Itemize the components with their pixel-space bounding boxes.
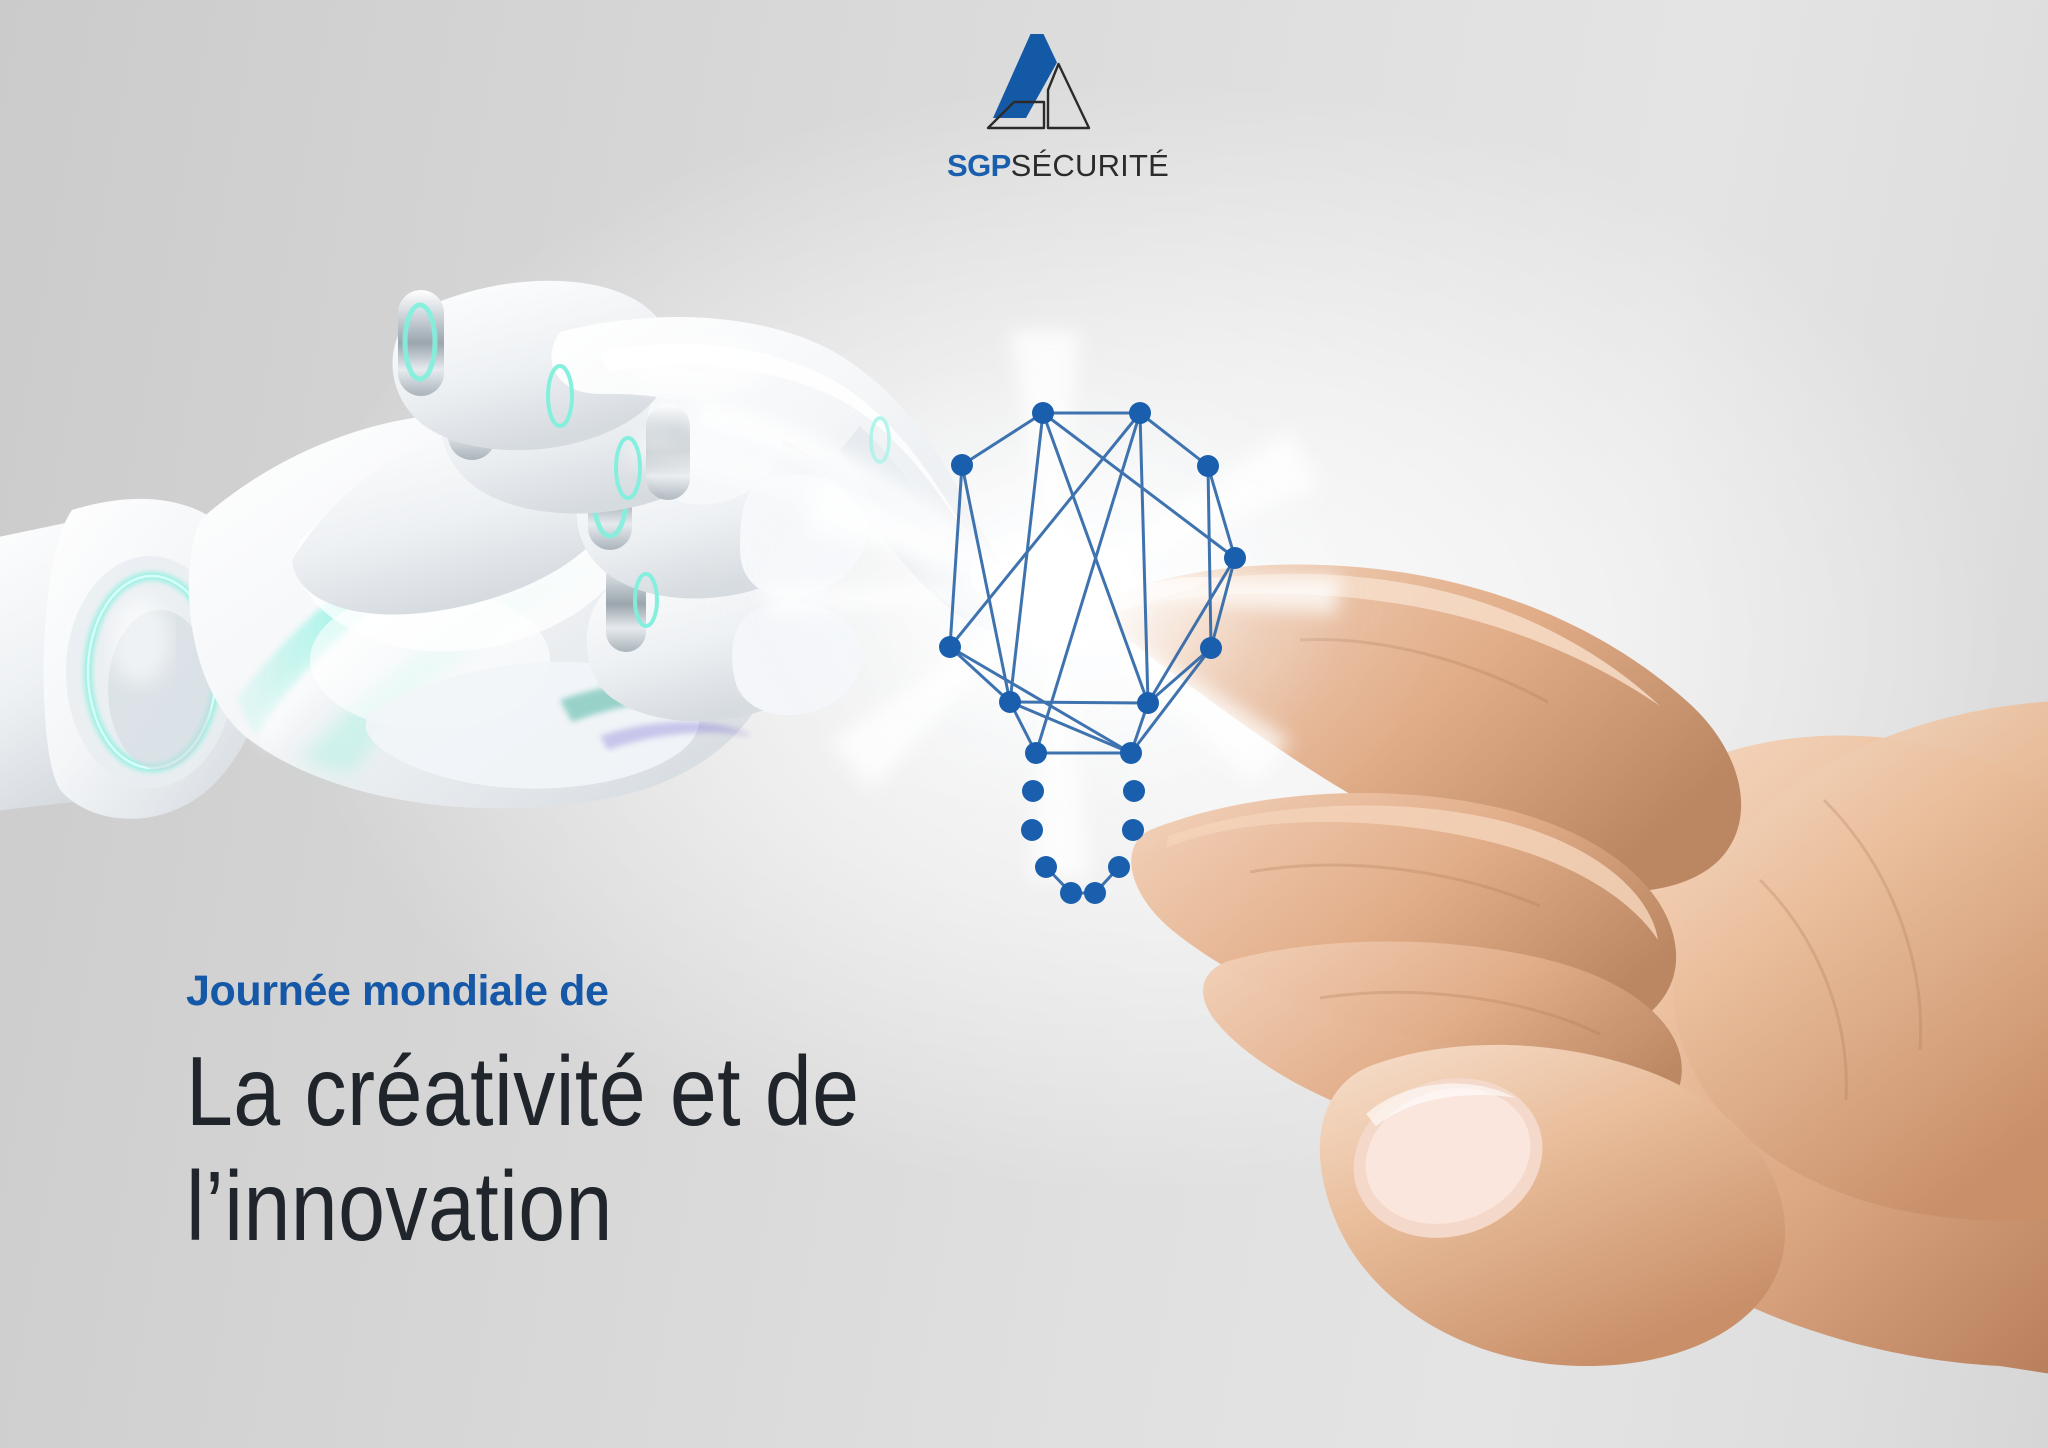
network-node [1022,780,1044,802]
network-node [1123,780,1145,802]
network-edge [1140,413,1208,466]
logo-wordmark-bold: SGP [947,148,1011,183]
network-node [1129,402,1151,424]
headline-block: Journée mondiale de La créativité et de … [186,966,1266,1265]
network-node [1108,856,1130,878]
network-node [999,691,1021,713]
network-node [1120,742,1142,764]
network-edge [1148,648,1211,703]
logo[interactable]: SGPSÉCURITÉ [947,28,1147,181]
network-node [1084,882,1106,904]
network-node [951,454,973,476]
logo-wordmark-light: SÉCURITÉ [1011,148,1169,183]
logo-wordmark: SGPSÉCURITÉ [947,150,1147,181]
network-edge [1208,466,1211,648]
network-node [1122,819,1144,841]
network-edge [1148,558,1235,703]
network-edge [1010,413,1043,702]
network-nodes [939,402,1246,904]
network-node [1025,742,1047,764]
network-edge [1211,558,1235,648]
network-edge [950,413,1140,647]
network-node [1224,547,1246,569]
network-edge [1010,702,1148,703]
network-node [1197,455,1219,477]
page-title: La créativité et de l’innovation [186,1034,1115,1265]
network-edge [1208,466,1235,558]
sgp-triangle-mark [957,28,1137,148]
network-node [1137,692,1159,714]
network-edges [950,413,1235,893]
network-edge [950,465,962,647]
network-node [1021,819,1043,841]
network-node [1035,856,1057,878]
network-edge [962,413,1043,465]
network-node [1060,882,1082,904]
network-node [1032,402,1054,424]
network-node [939,636,961,658]
network-edge [1140,413,1148,703]
eyebrow-text: Journée mondiale de [186,966,1266,1018]
network-node [1200,637,1222,659]
network-edge [1043,413,1235,558]
poster-canvas: SGPSÉCURITÉ Journée mondiale de La créat… [0,0,2048,1448]
